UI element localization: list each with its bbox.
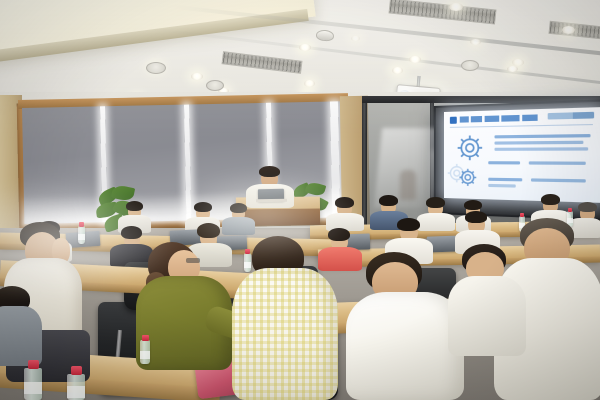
attendee-torso xyxy=(0,306,42,366)
water-bottle xyxy=(78,226,85,244)
slide-bullet-icon xyxy=(450,117,457,124)
ceiling-downlight xyxy=(191,73,203,80)
ceiling-downlight xyxy=(299,44,311,51)
ceiling-downlight xyxy=(470,39,481,45)
attendee-torso xyxy=(448,276,526,356)
ceiling-downlight xyxy=(392,67,403,74)
water-bottle xyxy=(67,374,85,400)
attendee-torso xyxy=(346,292,464,400)
ceiling-downlight xyxy=(409,56,421,63)
conference-room-photo: Seminar in a corporate conference room xyxy=(0,0,600,400)
eyeglasses-icon xyxy=(186,258,200,263)
ceiling-downlight xyxy=(562,26,575,34)
gear-icon xyxy=(456,133,484,162)
ceiling-downlight xyxy=(507,66,518,72)
slide-divider xyxy=(450,124,593,128)
water-bottle xyxy=(244,253,251,272)
presenter-laptop-base xyxy=(256,199,287,203)
ceiling-downlight xyxy=(304,80,315,87)
ceiling-downlight xyxy=(512,59,524,66)
ceiling-speaker xyxy=(206,80,224,91)
water-bottle xyxy=(24,368,42,400)
slide-title-text xyxy=(460,114,538,122)
slide-logo xyxy=(548,112,594,120)
ceiling-downlight xyxy=(351,36,360,41)
glass-reflected-figure xyxy=(400,170,416,200)
water-bottle xyxy=(140,340,150,364)
presenter-hair xyxy=(259,166,280,177)
gear-icon xyxy=(446,162,468,184)
attendee-torso xyxy=(232,268,338,400)
ceiling-speaker xyxy=(146,62,166,74)
ceiling-speaker xyxy=(461,60,479,71)
ceiling-downlight xyxy=(449,3,463,11)
presentation-slide xyxy=(444,107,600,203)
